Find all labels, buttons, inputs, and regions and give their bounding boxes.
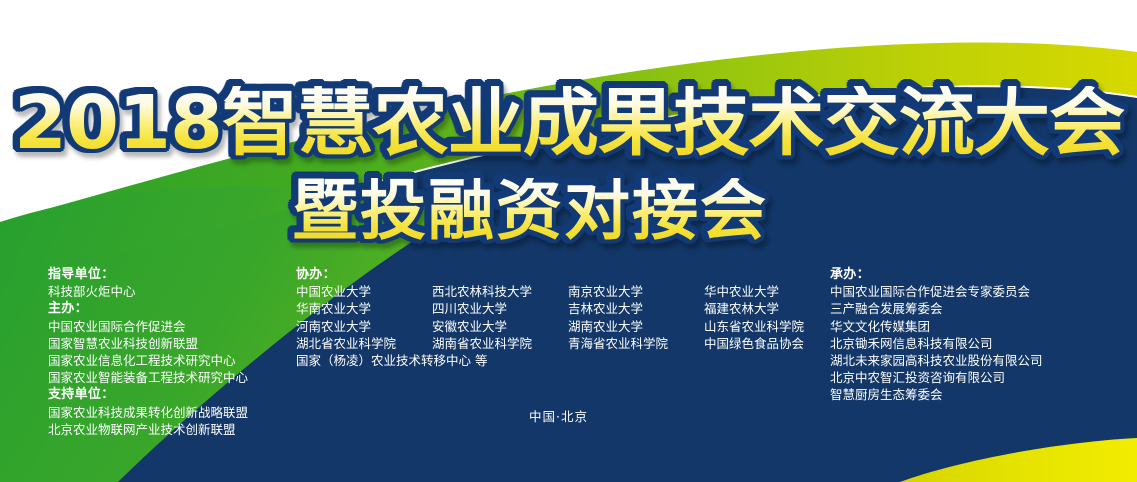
organization-item: 湖南农业大学 — [568, 318, 704, 335]
organizers-left-column: 指导单位： 科技部火炬中心 主办： 中国农业国际合作促进会 国家智慧农业科技创新… — [48, 266, 248, 438]
organization-item: 中国农业大学 — [296, 283, 432, 300]
organization-item: 中国农业国际合作促进会 — [48, 318, 248, 335]
co-organizer-row: 华南农业大学 四川农业大学 吉林农业大学 福建农林大学 — [296, 300, 804, 317]
organization-item: 湖北未来家园高科技农业股份有限公司 — [830, 352, 1043, 369]
co-organizer-row: 河南农业大学 安徽农业大学 湖南农业大学 山东省农业科学院 — [296, 318, 804, 335]
organization-item: 华中农业大学 — [704, 283, 779, 300]
event-location: 中国·北京 — [529, 406, 588, 425]
organization-item: 华南农业大学 — [296, 300, 432, 317]
organization-item: 湖南省农业科学院 — [432, 335, 568, 352]
co-organizer-row: 中国农业大学 西北农林科技大学 南京农业大学 华中农业大学 — [296, 283, 804, 300]
co-organizer-row: 湖北省农业科学院 湖南省农业科学院 青海省农业科学院 中国绿色食品协会 — [296, 335, 804, 352]
organization-item: 西北农林科技大学 — [432, 283, 568, 300]
undertakers-column: 承办： 中国农业国际合作促进会专家委员会 三产融合发展筹委会 华文文化传媒集团 … — [830, 266, 1043, 404]
organization-item: 安徽农业大学 — [432, 318, 568, 335]
organization-item: 三产融合发展筹委会 — [830, 300, 1043, 317]
co-organizer-last-row: 国家（杨凌）农业技术转移中心 等 — [296, 352, 804, 369]
section-heading-hosts: 主办： — [48, 300, 248, 317]
organization-item: 南京农业大学 — [568, 283, 704, 300]
organization-item: 福建农林大学 — [704, 300, 779, 317]
section-heading-undertakers: 承办： — [830, 266, 1043, 283]
organization-item: 国家农业科技成果转化创新战略联盟 — [48, 404, 248, 421]
organization-item: 北京中农智汇投资咨询有限公司 — [830, 369, 1043, 386]
organization-item: 国家农业信息化工程技术研究中心 — [48, 352, 248, 369]
organization-item: 青海省农业科学院 — [568, 335, 704, 352]
co-organizers-column: 协办： 中国农业大学 西北农林科技大学 南京农业大学 华中农业大学 华南农业大学… — [296, 266, 804, 369]
organization-item: 山东省农业科学院 — [704, 318, 804, 335]
conference-banner: 2018智慧农业成果技术交流大会 暨投融资对接会 指导单位： 科技部火炬中心 主… — [0, 0, 1137, 482]
organization-item: 智慧厨房生态筹委会 — [830, 386, 1043, 403]
section-heading-supporters: 支持单位： — [48, 386, 248, 403]
organization-item: 中国农业国际合作促进会专家委员会 — [830, 283, 1043, 300]
organization-item: 河南农业大学 — [296, 318, 432, 335]
organization-item: 科技部火炬中心 — [48, 283, 248, 300]
organization-item: 国家农业智能装备工程技术研究中心 — [48, 369, 248, 386]
section-heading-guidance: 指导单位： — [48, 266, 248, 283]
organization-item: 吉林农业大学 — [568, 300, 704, 317]
organization-item: 北京锄禾网信息科技有限公司 — [830, 335, 1043, 352]
organization-item: 中国绿色食品协会 — [704, 335, 804, 352]
organization-item: 四川农业大学 — [432, 300, 568, 317]
organization-item: 国家智慧农业科技创新联盟 — [48, 335, 248, 352]
organization-item: 北京农业物联网产业技术创新联盟 — [48, 421, 248, 438]
organization-item: 华文文化传媒集团 — [830, 318, 1043, 335]
organization-item: 湖北省农业科学院 — [296, 335, 432, 352]
section-heading-co-organizers: 协办： — [296, 266, 804, 283]
